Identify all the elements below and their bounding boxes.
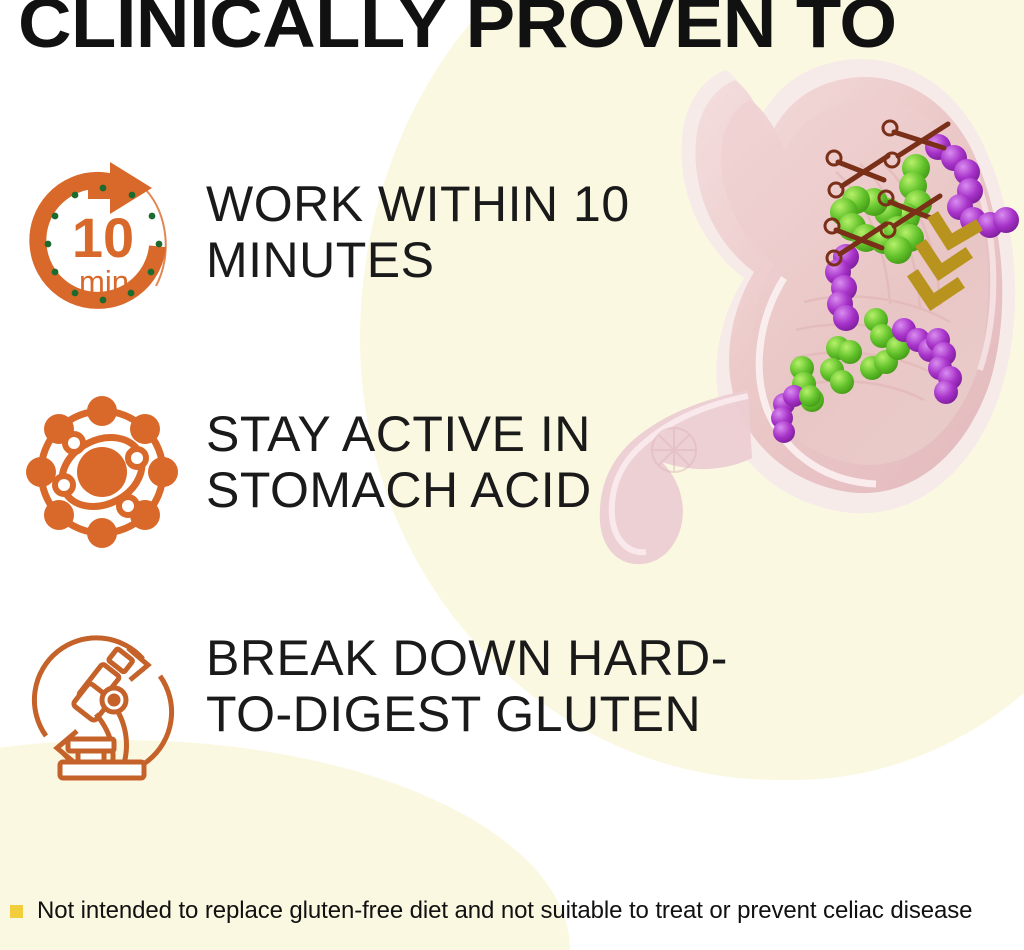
benefit-row-stay-active-in-stomach-acid: STAY ACTIVE IN STOMACH ACID [18, 388, 592, 568]
page-headline: CLINICALLY PROVEN TO [18, 0, 897, 58]
benefit-row-break-down-gluten: BREAK DOWN HARD- TO-DIGEST GLUTEN [18, 618, 728, 798]
timer-10-min-icon: 10 min [18, 152, 188, 332]
footnote: Not intended to replace gluten-free diet… [10, 897, 1010, 925]
benefit-label-3: BREAK DOWN HARD- TO-DIGEST GLUTEN [206, 618, 728, 742]
microscope-cycle-icon [18, 618, 188, 798]
infographic-canvas: CLINICALLY PROVEN TO [0, 0, 1024, 950]
benefit-label-1: WORK WITHIN 10 MINUTES [206, 152, 630, 288]
benefit-label-2: STAY ACTIVE IN STOMACH ACID [206, 388, 592, 518]
atom-icon [18, 388, 188, 568]
benefit-row-work-within-10-minutes: 10 min WORK WITHIN 10 MINUTES [18, 152, 630, 332]
footnote-text: Not intended to replace gluten-free diet… [37, 897, 972, 925]
square-bullet-icon [10, 905, 23, 918]
svg-text:10: 10 [72, 206, 134, 269]
stomach-digestion-illustration [598, 52, 1024, 572]
svg-text:min: min [79, 264, 129, 299]
